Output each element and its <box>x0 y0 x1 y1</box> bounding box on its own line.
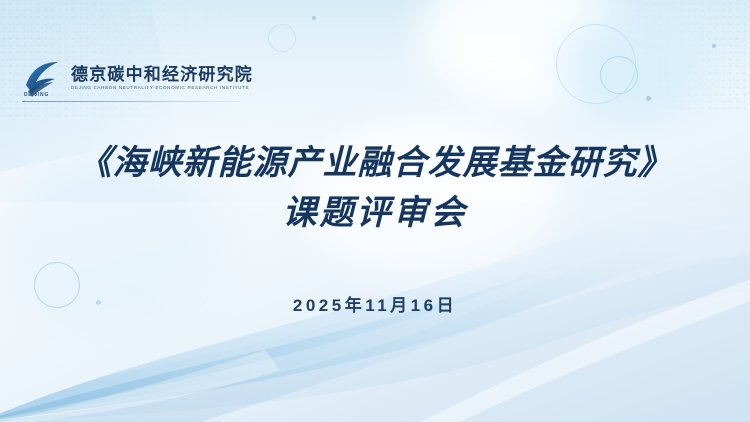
page-subtitle: 课题评审会 <box>0 192 750 236</box>
background-dot-pattern-right <box>510 0 750 110</box>
logo-abbreviation: DE JING <box>24 92 49 98</box>
page-title: 《海峡新能源产业融合发展基金研究》 <box>0 143 750 186</box>
background-ring-3 <box>600 56 638 94</box>
event-date: 2025年11月16日 <box>0 291 750 316</box>
logo-name-cn: 德京碳中和经济研究院 <box>71 66 253 83</box>
background-ring-2 <box>556 24 636 104</box>
logo-name-en: DEJING CARBON NEUTRALITY ECONOMIC RESEAR… <box>71 86 253 91</box>
background-glow-b <box>560 10 710 120</box>
logo-underline-rule <box>22 101 238 102</box>
background-ring-4 <box>268 24 296 52</box>
background-glow-a <box>420 0 620 110</box>
background-dot-3 <box>712 44 716 48</box>
presentation-slide: 德京碳中和经济研究院 DEJING CARBON NEUTRALITY ECON… <box>0 0 750 422</box>
slide-title-block: 《海峡新能源产业融合发展基金研究》 课题评审会 <box>0 143 750 236</box>
background-dot-2 <box>646 96 651 101</box>
institute-logo: 德京碳中和经济研究院 DEJING CARBON NEUTRALITY ECON… <box>22 58 253 98</box>
background-dot-4 <box>312 16 316 20</box>
